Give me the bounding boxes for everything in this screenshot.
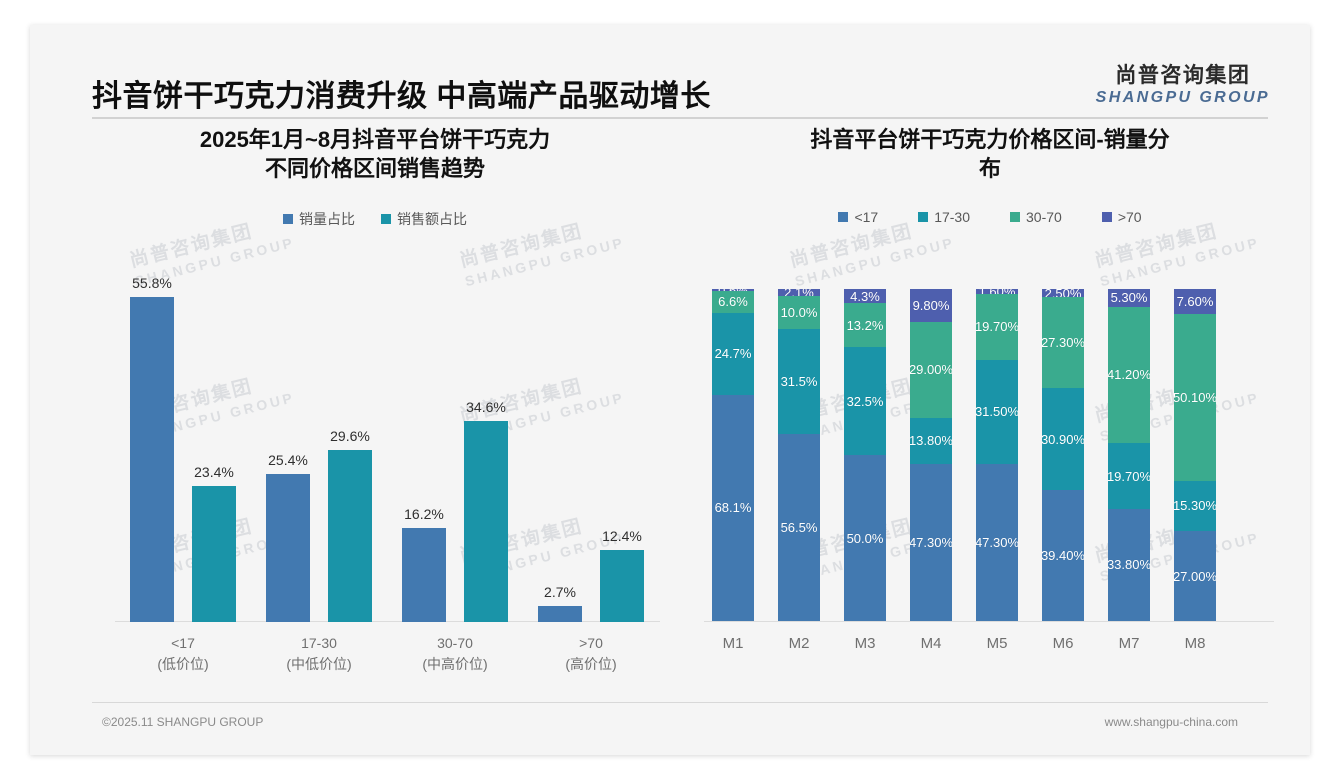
segment-over-70[interactable]: 9.80% bbox=[910, 289, 952, 322]
bar-revenue-share[interactable]: 34.6% bbox=[464, 421, 508, 622]
stacked-bar[interactable]: 7.60% 50.10% 15.30% 27.00% bbox=[1174, 289, 1216, 621]
segment-value-label: 50.0% bbox=[847, 531, 884, 546]
x-axis-tick-label: M5 bbox=[976, 635, 1018, 652]
segment-value-label: 15.30% bbox=[1174, 498, 1216, 513]
legend-label: 17-30 bbox=[934, 209, 970, 225]
grouped-bar-chart: 55.8% 23.4% <17 (低价位) 25.4% 29.6% bbox=[70, 260, 680, 680]
segment-over-70[interactable]: 2.1% bbox=[778, 289, 820, 296]
segment-value-label: 68.1% bbox=[715, 500, 752, 515]
legend-item-volume-share[interactable]: 销量占比 bbox=[283, 209, 355, 229]
segment-30-70[interactable]: 27.30% bbox=[1042, 297, 1084, 388]
segment-30-70[interactable]: 6.6% bbox=[712, 291, 754, 313]
segment-value-label: 7.60% bbox=[1177, 294, 1214, 309]
segment-value-label: 30.90% bbox=[1042, 432, 1084, 447]
legend-label: 30-70 bbox=[1026, 209, 1062, 225]
legend-item-30-70[interactable]: 30-70 bbox=[1010, 209, 1062, 225]
segment-value-label: 32.5% bbox=[847, 394, 884, 409]
x-axis-tick-label: M4 bbox=[910, 635, 952, 652]
segment-17-30[interactable]: 19.70% bbox=[1108, 443, 1150, 508]
segment-value-label: 31.50% bbox=[976, 404, 1018, 419]
segment-value-label: 5.30% bbox=[1111, 290, 1148, 305]
bar-revenue-share[interactable]: 29.6% bbox=[328, 450, 372, 622]
segment-value-label: 39.40% bbox=[1042, 548, 1084, 563]
legend-swatch-icon bbox=[1102, 212, 1112, 222]
stacked-bar[interactable]: 0.6% 6.6% 24.7% 68.1% bbox=[712, 289, 754, 621]
chart-title-volume-distribution: 抖音平台饼干巧克力价格区间-销量分 布 bbox=[690, 125, 1290, 183]
segment-under-17[interactable]: 47.30% bbox=[910, 464, 952, 621]
legend-sales-trend: 销量占比 销售额占比 bbox=[70, 209, 680, 229]
bar-volume-share[interactable]: 55.8% bbox=[130, 297, 174, 622]
chart-title-line2: 布 bbox=[720, 154, 1260, 183]
bar-group: 16.2% 34.6% bbox=[387, 421, 523, 622]
x-axis-tick-label: 30-70 (中高价位) bbox=[387, 633, 523, 674]
chart-title-line2: 不同价格区间销售趋势 bbox=[100, 154, 650, 183]
stacked-bar[interactable]: 2.50% 27.30% 30.90% 39.40% bbox=[1042, 289, 1084, 621]
bar-value-label: 55.8% bbox=[132, 275, 172, 291]
legend-item-under-17[interactable]: <17 bbox=[838, 209, 878, 225]
segment-value-label: 19.70% bbox=[1108, 469, 1150, 484]
stacked-bar[interactable]: 9.80% 29.00% 13.80% 47.30% bbox=[910, 289, 952, 621]
segment-under-17[interactable]: 33.80% bbox=[1108, 509, 1150, 621]
segment-value-label: 31.5% bbox=[781, 374, 818, 389]
segment-30-70[interactable]: 41.20% bbox=[1108, 307, 1150, 444]
chart-panel-sales-trend: 2025年1月~8月抖音平台饼干巧克力 不同价格区间销售趋势 销量占比 销售额占… bbox=[70, 125, 680, 685]
segment-value-label: 4.3% bbox=[850, 289, 880, 303]
legend-label: 销量占比 bbox=[299, 209, 355, 229]
legend-swatch-icon bbox=[918, 212, 928, 222]
segment-value-label: 33.80% bbox=[1108, 557, 1150, 572]
bar-group: 25.4% 29.6% bbox=[251, 450, 387, 622]
segment-value-label: 6.6% bbox=[718, 294, 748, 309]
segment-value-label: 2.1% bbox=[784, 289, 814, 296]
legend-item-17-30[interactable]: 17-30 bbox=[918, 209, 970, 225]
segment-under-17[interactable]: 27.00% bbox=[1174, 531, 1216, 621]
legend-item-revenue-share[interactable]: 销售额占比 bbox=[381, 209, 467, 229]
segment-under-17[interactable]: 68.1% bbox=[712, 395, 754, 621]
x-axis-tick-label: >70 (高价位) bbox=[523, 633, 659, 674]
legend-volume-distribution: <17 17-30 30-70 >70 bbox=[690, 209, 1290, 225]
segment-value-label: 13.80% bbox=[910, 433, 952, 448]
chart-title-line1: 2025年1月~8月抖音平台饼干巧克力 bbox=[100, 125, 650, 154]
legend-swatch-icon bbox=[283, 214, 293, 224]
segment-value-label: 2.50% bbox=[1045, 289, 1082, 297]
x-axis-tick-label: <17 (低价位) bbox=[115, 633, 251, 674]
legend-swatch-icon bbox=[1010, 212, 1020, 222]
segment-17-30[interactable]: 31.5% bbox=[778, 329, 820, 433]
bar-value-label: 12.4% bbox=[602, 528, 642, 544]
brand-name-en: SHANGPU GROUP bbox=[1096, 90, 1270, 106]
segment-value-label: 47.30% bbox=[910, 535, 952, 550]
bar-value-label: 23.4% bbox=[194, 464, 234, 480]
segment-17-30[interactable]: 13.80% bbox=[910, 418, 952, 464]
segment-under-17[interactable]: 50.0% bbox=[844, 455, 886, 621]
stacked-bar[interactable]: 4.3% 13.2% 32.5% 50.0% bbox=[844, 289, 886, 621]
chart-title-sales-trend: 2025年1月~8月抖音平台饼干巧克力 不同价格区间销售趋势 bbox=[70, 125, 680, 183]
legend-label: <17 bbox=[854, 209, 878, 225]
legend-label: 销售额占比 bbox=[397, 209, 467, 229]
stacked-bar[interactable]: 1.60% 19.70% 31.50% 47.30% bbox=[976, 289, 1018, 621]
segment-over-70[interactable]: 5.30% bbox=[1108, 289, 1150, 307]
brand-name-cn: 尚普咨询集团 bbox=[1096, 65, 1270, 86]
segment-over-70[interactable]: 4.3% bbox=[844, 289, 886, 303]
bar-value-label: 29.6% bbox=[330, 428, 370, 444]
bar-value-label: 2.7% bbox=[544, 584, 576, 600]
footer-divider bbox=[92, 702, 1268, 703]
segment-value-label: 27.30% bbox=[1042, 335, 1084, 350]
segment-30-70[interactable]: 19.70% bbox=[976, 294, 1018, 359]
chart-panel-volume-distribution: 抖音平台饼干巧克力价格区间-销量分 布 <17 17-30 30-70 >70 bbox=[690, 125, 1290, 685]
segment-17-30[interactable]: 15.30% bbox=[1174, 481, 1216, 532]
slide-header: 抖音饼干巧克力消费升级 中高端产品驱动增长 尚普咨询集团 SHANGPU GRO… bbox=[30, 25, 1310, 117]
segment-17-30[interactable]: 32.5% bbox=[844, 347, 886, 455]
legend-swatch-icon bbox=[381, 214, 391, 224]
segment-30-70[interactable]: 50.10% bbox=[1174, 314, 1216, 480]
segment-under-17[interactable]: 39.40% bbox=[1042, 490, 1084, 621]
legend-item-over-70[interactable]: >70 bbox=[1102, 209, 1142, 225]
x-axis-tick-label: 17-30 (中低价位) bbox=[251, 633, 387, 674]
segment-value-label: 41.20% bbox=[1108, 367, 1150, 382]
bar-revenue-share[interactable]: 23.4% bbox=[192, 486, 236, 622]
segment-value-label: 27.00% bbox=[1174, 569, 1216, 584]
legend-swatch-icon bbox=[838, 212, 848, 222]
segment-over-70[interactable]: 2.50% bbox=[1042, 289, 1084, 297]
bar-volume-share[interactable]: 16.2% bbox=[402, 528, 446, 622]
stacked-bar[interactable]: 2.1% 10.0% 31.5% 56.5% bbox=[778, 289, 820, 621]
bar-volume-share[interactable]: 2.7% bbox=[538, 606, 582, 622]
segment-value-label: 10.0% bbox=[781, 305, 818, 320]
stacked-bar[interactable]: 5.30% 41.20% 19.70% 33.80% bbox=[1108, 289, 1150, 621]
segment-30-70[interactable]: 10.0% bbox=[778, 296, 820, 329]
x-axis-tick-label: M7 bbox=[1108, 635, 1150, 652]
header-divider bbox=[92, 117, 1268, 119]
chart-title-line1: 抖音平台饼干巧克力价格区间-销量分 bbox=[720, 125, 1260, 154]
bar-group: 55.8% 23.4% bbox=[115, 297, 251, 622]
brand-logo: 尚普咨询集团 SHANGPU GROUP bbox=[1096, 65, 1270, 106]
footer-copyright: ©2025.11 SHANGPU GROUP bbox=[102, 715, 263, 729]
segment-value-label: 19.70% bbox=[976, 319, 1018, 334]
bar-volume-share[interactable]: 25.4% bbox=[266, 474, 310, 622]
segment-value-label: 13.2% bbox=[847, 318, 884, 333]
stacked-bar-chart: 0.6% 6.6% 24.7% 68.1% M1 2.1% 10.0% 31.5… bbox=[690, 260, 1290, 680]
slide-canvas: 抖音饼干巧克力消费升级 中高端产品驱动增长 尚普咨询集团 SHANGPU GRO… bbox=[30, 25, 1310, 755]
bar-group: 2.7% 12.4% bbox=[523, 550, 659, 622]
segment-value-label: 50.10% bbox=[1174, 390, 1216, 405]
bar-value-label: 16.2% bbox=[404, 506, 444, 522]
x-axis-tick-label: M6 bbox=[1042, 635, 1084, 652]
segment-value-label: 56.5% bbox=[781, 520, 818, 535]
bar-value-label: 34.6% bbox=[466, 399, 506, 415]
segment-17-30[interactable]: 31.50% bbox=[976, 360, 1018, 464]
bar-value-label: 25.4% bbox=[268, 452, 308, 468]
footer-website[interactable]: www.shangpu-china.com bbox=[1105, 715, 1238, 729]
segment-over-70[interactable]: 7.60% bbox=[1174, 289, 1216, 314]
segment-17-30[interactable]: 24.7% bbox=[712, 313, 754, 395]
segment-under-17[interactable]: 47.30% bbox=[976, 464, 1018, 621]
segment-under-17[interactable]: 56.5% bbox=[778, 434, 820, 621]
x-axis-line bbox=[704, 621, 1274, 622]
x-axis-tick-label: M3 bbox=[844, 635, 886, 652]
x-axis-tick-label: M2 bbox=[778, 635, 820, 652]
segment-value-label: 29.00% bbox=[910, 362, 952, 377]
x-axis-tick-label: M1 bbox=[712, 635, 754, 652]
segment-30-70[interactable]: 29.00% bbox=[910, 322, 952, 418]
x-axis-tick-label: M8 bbox=[1174, 635, 1216, 652]
segment-17-30[interactable]: 30.90% bbox=[1042, 388, 1084, 490]
segment-value-label: 9.80% bbox=[913, 298, 950, 313]
page-title: 抖音饼干巧克力消费升级 中高端产品驱动增长 bbox=[92, 71, 711, 115]
legend-label: >70 bbox=[1118, 209, 1142, 225]
segment-value-label: 47.30% bbox=[976, 535, 1018, 550]
segment-value-label: 24.7% bbox=[715, 346, 752, 361]
segment-30-70[interactable]: 13.2% bbox=[844, 303, 886, 347]
bar-revenue-share[interactable]: 12.4% bbox=[600, 550, 644, 622]
